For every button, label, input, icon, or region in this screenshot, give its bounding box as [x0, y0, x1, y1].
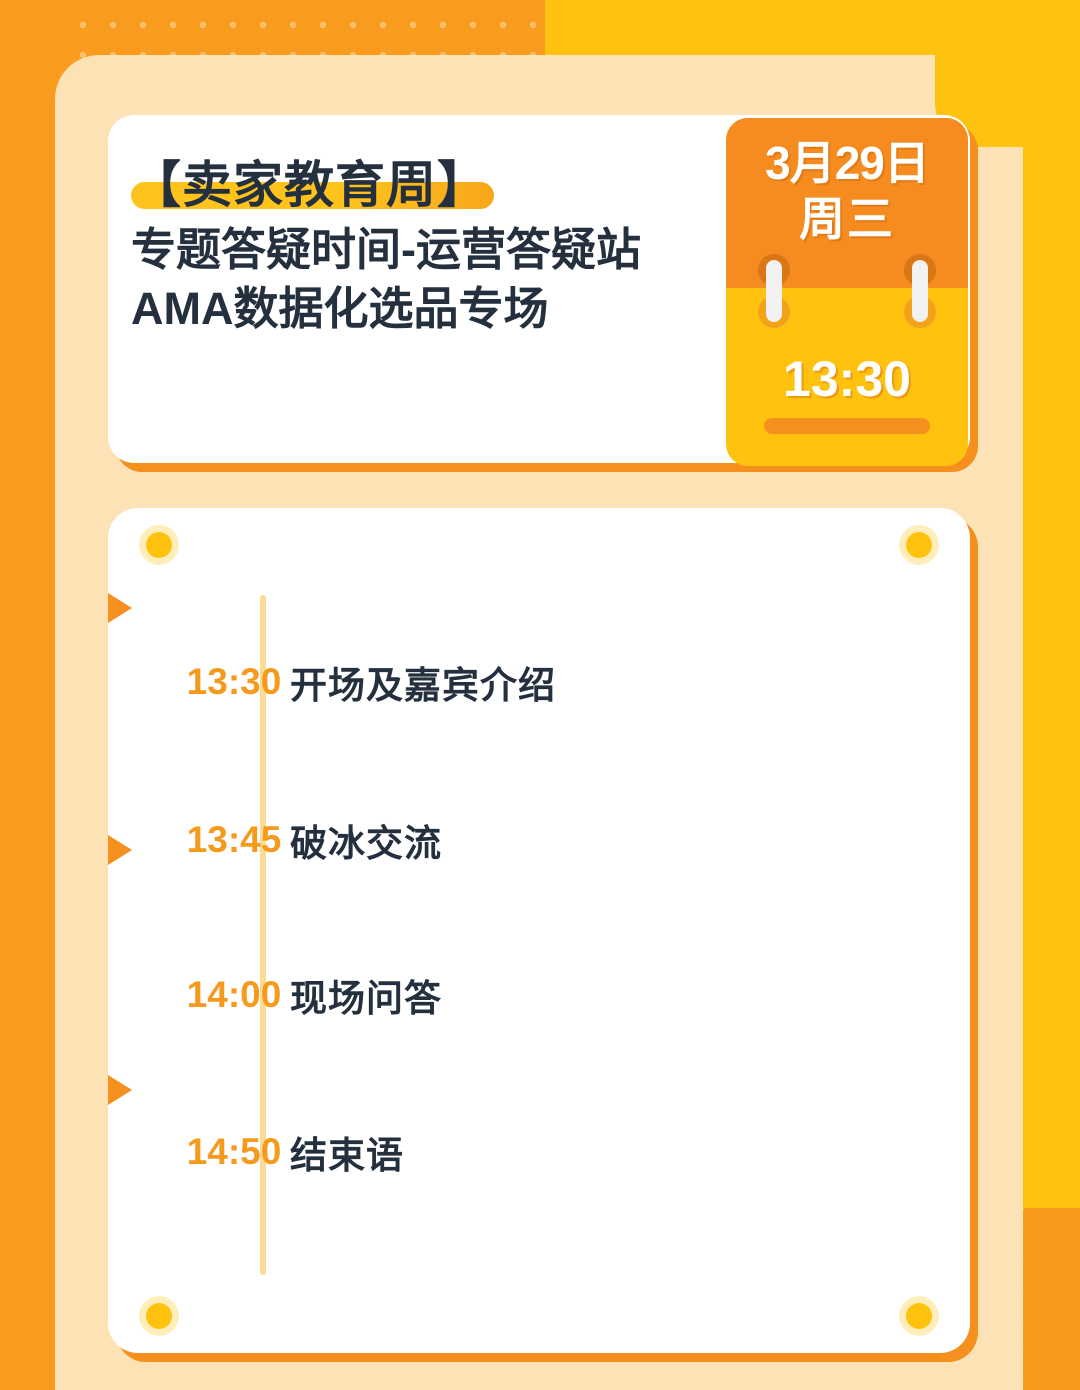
- schedule-row[interactable]: 13:30 开场及嘉宾介绍: [108, 652, 970, 712]
- schedule-row-label: 现场问答: [290, 968, 442, 1022]
- schedule-row-label: 结束语: [290, 1125, 404, 1179]
- date-badge-time: 13:30: [726, 350, 968, 408]
- calendar-ring-right-icon: [910, 254, 930, 326]
- date-badge: 3月29日 周三 13:30: [726, 118, 968, 466]
- date-badge-underline-bar: [764, 418, 930, 434]
- poster-root: 【卖家教育周】 专题答疑时间-运营答疑站 AMA数据化选品专场 3月29日 周三…: [0, 0, 1080, 1390]
- schedule-row[interactable]: 14:00 现场问答: [108, 965, 970, 1025]
- subtitle-line-1: 专题答疑时间-运营答疑站: [131, 221, 731, 280]
- background-orange-strip-left: [0, 0, 58, 1390]
- date-badge-date: 3月29日: [726, 138, 968, 190]
- subtitle-line-2: AMA数据化选品专场: [131, 280, 731, 339]
- ring-bar: [912, 260, 928, 322]
- ring-bar: [766, 260, 782, 322]
- schedule-list: 13:30 开场及嘉宾介绍 13:45 破冰交流 14:00 现场问答 14:5…: [108, 508, 970, 1353]
- schedule-row[interactable]: 14:50 结束语: [108, 1122, 970, 1182]
- background-orange-block-bottom-right: [1024, 1208, 1080, 1390]
- title-highlight-wrap: 【卖家教育周】: [131, 157, 488, 213]
- schedule-row-label: 破冰交流: [290, 813, 442, 867]
- date-badge-weekday: 周三: [726, 194, 968, 246]
- schedule-row-label: 开场及嘉宾介绍: [290, 655, 556, 709]
- header-text-block: 【卖家教育周】 专题答疑时间-运营答疑站 AMA数据化选品专场: [131, 157, 731, 338]
- background-yellow-strip-right: [1018, 0, 1080, 1210]
- page-title: 【卖家教育周】: [131, 157, 488, 213]
- schedule-row[interactable]: 13:45 破冰交流: [108, 810, 970, 870]
- calendar-ring-left-icon: [764, 254, 784, 326]
